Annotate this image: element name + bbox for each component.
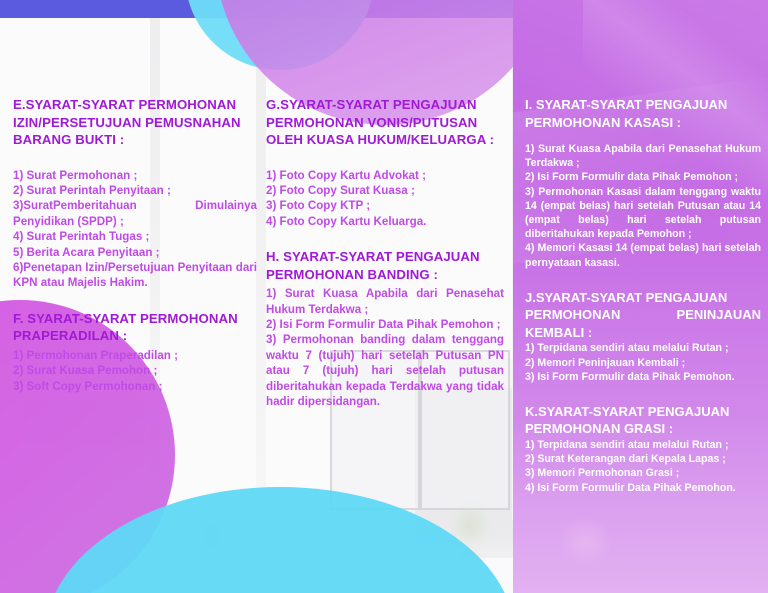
column-right: I. SYARAT-SYARAT PENGAJUAN PERMOHONAN KA…: [525, 96, 761, 495]
heading-section-f: F. SYARAT-SYARAT PERMOHONAN PRAPERADILAN…: [13, 310, 257, 345]
column-middle: G.SYARAT-SYARAT PENGAJUAN PERMOHONAN VON…: [266, 96, 504, 409]
list-item: 1) Terpidana sendiri atau melalui Rutan …: [525, 341, 761, 355]
list-item: 4) Isi Form Formulir Data Pihak Pemohon.: [525, 481, 761, 495]
list-item: 2) Surat Keterangan dari Kepala Lapas ;: [525, 452, 761, 466]
heading-section-j-line2: PERMOHONAN PENINJAUAN KEMBALI :: [525, 306, 761, 341]
list-section-i: 1) Surat Kuasa Apabila dari Penasehat Hu…: [525, 142, 761, 270]
list-item: 3) Memori Permohonan Grasi ;: [525, 466, 761, 480]
list-section-j: 1) Terpidana sendiri atau melalui Rutan …: [525, 341, 761, 384]
heading-section-i: I. SYARAT-SYARAT PENGAJUAN PERMOHONAN KA…: [525, 96, 761, 131]
list-section-k: 1) Terpidana sendiri atau melalui Rutan …: [525, 438, 761, 495]
heading-section-h-line2: PERMOHONAN BANDING :: [266, 266, 504, 284]
heading-section-f-line1: F. SYARAT-SYARAT PERMOHONAN: [13, 310, 257, 328]
heading-section-i-line2: PERMOHONAN KASASI :: [525, 114, 761, 132]
list-section-g: 1) Foto Copy Kartu Advokat ; 2) Foto Cop…: [266, 168, 504, 230]
list-item: 1) Surat Kuasa Apabila dari Penasehat Hu…: [525, 142, 761, 170]
heading-section-g-line1: G.SYARAT-SYARAT PENGAJUAN: [266, 96, 504, 114]
list-item: 2) Surat Kuasa Pemohon ;: [13, 363, 257, 378]
heading-section-h: H. SYARAT-SYARAT PENGAJUAN PERMOHONAN BA…: [266, 248, 504, 283]
list-item: 6)Penetapan Izin/Persetujuan Penyitaan d…: [13, 260, 257, 291]
heading-section-e: E.SYARAT-SYARAT PERMOHONAN IZIN/PERSETUJ…: [13, 96, 257, 149]
list-item: 4) Memori Kasasi 14 (empat belas) hari s…: [525, 241, 761, 269]
list-item: 1) Foto Copy Kartu Advokat ;: [266, 168, 504, 183]
list-item: 4) Foto Copy Kartu Keluarga.: [266, 214, 504, 229]
heading-section-i-line1: I. SYARAT-SYARAT PENGAJUAN: [525, 96, 761, 114]
heading-section-e-line1: E.SYARAT-SYARAT PERMOHONAN: [13, 96, 257, 114]
heading-section-e-line2: IZIN/PERSETUJUAN PEMUSNAHAN: [13, 114, 257, 132]
list-section-f: 1) Permohonan Praperadilan ; 2) Surat Ku…: [13, 348, 257, 394]
list-item: 3) Permohonan banding dalam tenggang wak…: [266, 332, 504, 409]
list-item: 1) Surat Permohonan ;: [13, 168, 257, 183]
list-item: 2) Foto Copy Surat Kuasa ;: [266, 183, 504, 198]
heading-section-k-line2: PERMOHONAN GRASI :: [525, 420, 761, 438]
heading-section-f-line2: PRAPERADILAN :: [13, 327, 257, 345]
list-item: 3)SuratPemberitahuan Dimulainya Penyidik…: [13, 198, 257, 229]
heading-section-g-line2: PERMOHONAN VONIS/PUTUSAN: [266, 114, 504, 132]
list-item: 3) Foto Copy KTP ;: [266, 198, 504, 213]
list-item: 5) Berita Acara Penyitaan ;: [13, 245, 257, 260]
heading-section-h-line1: H. SYARAT-SYARAT PENGAJUAN: [266, 248, 504, 266]
list-item: 1) Surat Kuasa Apabila dari Penasehat Hu…: [266, 286, 504, 317]
list-item: 3) Isi Form Formulir data Pihak Pemohon.: [525, 370, 761, 384]
list-item: 3) Permohonan Kasasi dalam tenggang wakt…: [525, 185, 761, 242]
heading-section-e-line3: BARANG BUKTI :: [13, 131, 257, 149]
list-item: 4) Surat Perintah Tugas ;: [13, 229, 257, 244]
heading-section-k: K.SYARAT-SYARAT PENGAJUAN PERMOHONAN GRA…: [525, 403, 761, 438]
brochure-canvas: E.SYARAT-SYARAT PERMOHONAN IZIN/PERSETUJ…: [0, 0, 768, 593]
list-item: 1) Terpidana sendiri atau melalui Rutan …: [525, 438, 761, 452]
list-item: 1) Permohonan Praperadilan ;: [13, 348, 257, 363]
list-section-e: 1) Surat Permohonan ; 2) Surat Perintah …: [13, 168, 257, 291]
list-item: 2) Memori Peninjauan Kembali ;: [525, 356, 761, 370]
heading-section-g: G.SYARAT-SYARAT PENGAJUAN PERMOHONAN VON…: [266, 96, 504, 149]
list-item: 2) Isi Form Formulir data Pihak Pemohon …: [525, 170, 761, 184]
list-item: 2) Surat Perintah Penyitaan ;: [13, 183, 257, 198]
list-section-h: 1) Surat Kuasa Apabila dari Penasehat Hu…: [266, 286, 504, 409]
heading-section-j-line1: J.SYARAT-SYARAT PENGAJUAN: [525, 289, 761, 307]
heading-section-k-line1: K.SYARAT-SYARAT PENGAJUAN: [525, 403, 761, 421]
list-item: 3) Soft Copy Permohonan ;: [13, 379, 257, 394]
heading-section-g-line3: OLEH KUASA HUKUM/KELUARGA :: [266, 131, 504, 149]
heading-section-j: J.SYARAT-SYARAT PENGAJUAN PERMOHONAN PEN…: [525, 289, 761, 342]
photo-pillar-mid: [256, 0, 266, 520]
list-item: 2) Isi Form Formulir Data Pihak Pemohon …: [266, 317, 504, 332]
column-left: E.SYARAT-SYARAT PERMOHONAN IZIN/PERSETUJ…: [13, 96, 257, 394]
